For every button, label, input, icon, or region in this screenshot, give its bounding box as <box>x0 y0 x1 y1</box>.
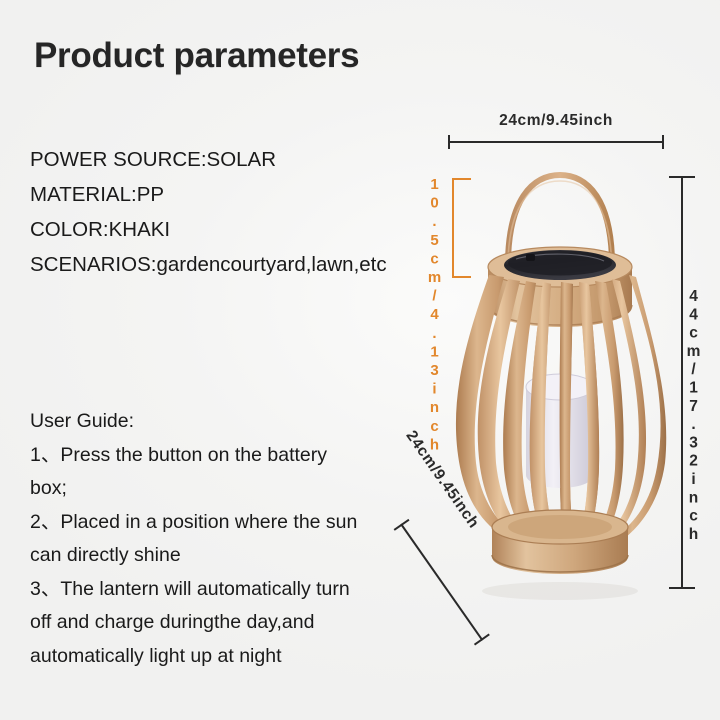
dimension-top-section-bracket <box>452 178 471 278</box>
dimension-top-section-label: 10.5cm/4.13inch <box>426 176 443 276</box>
spec-list: POWER SOURCE:SOLAR MATERIAL:PP COLOR:KHA… <box>30 142 420 282</box>
spec-power-source: POWER SOURCE:SOLAR <box>30 142 420 177</box>
spec-color: COLOR:KHAKI <box>30 212 420 247</box>
dimension-total-height-label: 44cm/17.32inch <box>684 288 702 544</box>
user-guide-line-1: 1、Press the button on the battery <box>30 439 380 473</box>
lantern-base <box>492 510 628 574</box>
dimension-top-width: 24cm/9.45inch <box>444 112 668 152</box>
user-guide-line-7: automatically light up at night <box>30 640 380 674</box>
product-parameters-image: Product parameters POWER SOURCE:SOLAR MA… <box>0 0 720 720</box>
power-button <box>526 254 535 261</box>
page-title: Product parameters <box>34 36 359 76</box>
lantern-slats-front <box>530 282 600 543</box>
user-guide-block: User Guide: 1、Press the button on the ba… <box>30 405 380 673</box>
user-guide-line-3: 2、Placed in a position where the sun <box>30 506 380 540</box>
user-guide-line-6: off and charge duringthe day,and <box>30 606 380 640</box>
dimension-top-width-label: 24cm/9.45inch <box>444 112 668 130</box>
user-guide-line-4: can directly shine <box>30 539 380 573</box>
user-guide-heading: User Guide: <box>30 405 380 439</box>
solar-panel <box>504 250 616 280</box>
spec-material: MATERIAL:PP <box>30 177 420 212</box>
dimension-total-height-rule <box>681 176 683 589</box>
spec-scenarios: SCENARIOS:gardencourtyard,lawn,etc <box>30 247 420 282</box>
user-guide-line-2: box; <box>30 472 380 506</box>
dimension-top-width-rule <box>448 141 664 143</box>
user-guide-line-5: 3、The lantern will automatically turn <box>30 573 380 607</box>
